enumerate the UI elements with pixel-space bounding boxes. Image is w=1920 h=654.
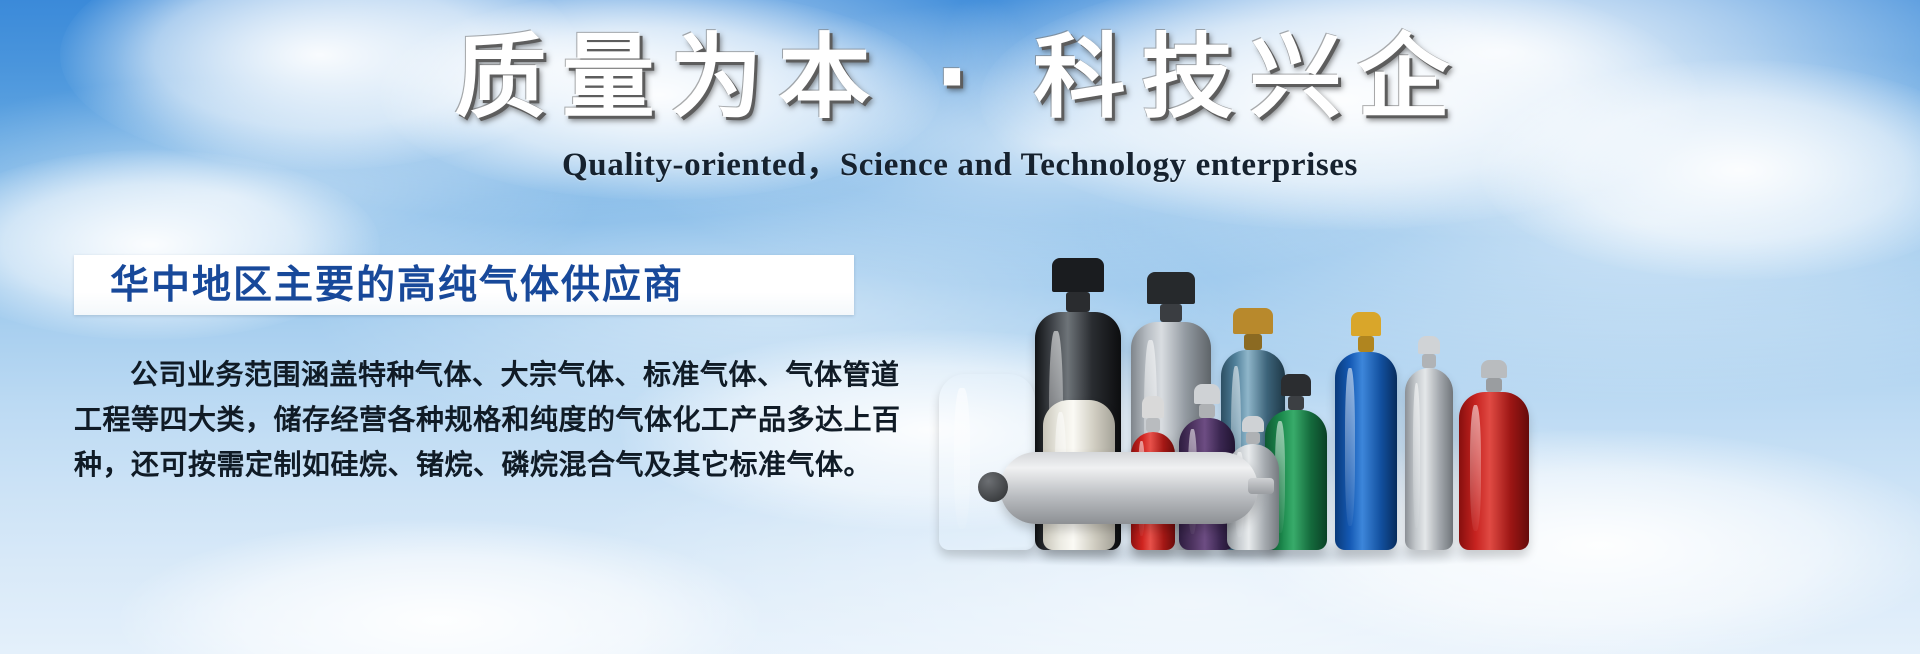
cylinder-blue-tall-body [1335, 352, 1397, 550]
cylinder-purple-neck [1199, 404, 1215, 418]
tank-nozzle-icon [1248, 478, 1274, 494]
cylinder-green-valve-cap [1281, 374, 1311, 396]
cylinder-teal-valve-neck [1244, 334, 1262, 350]
cylinder-red-wide-neck [1486, 378, 1502, 392]
cylinder-red-wide-body [1459, 392, 1529, 550]
cylinder-grey-tall-valve-cap [1147, 272, 1195, 304]
paragraph-line-3: 种，还可按需定制如硅烷、锗烷、磷烷混合气及其它标准气体。 [74, 442, 864, 487]
cylinder-blue-tall-neck [1358, 336, 1374, 352]
paragraph-line-1: 公司业务范围涵盖特种气体、大宗气体、标准气体、气体管道 [74, 352, 864, 397]
slogan-text: 华中地区主要的高纯气体供应商 [74, 266, 684, 305]
description-paragraph: 公司业务范围涵盖特种气体、大宗气体、标准气体、气体管道 工程等四大类，储存经营各… [74, 352, 864, 487]
cylinder-red-wide-valve-cap [1481, 360, 1507, 378]
cylinder-black-tall-valve-cap [1052, 258, 1104, 292]
promo-banner: 质量为本 · 科技兴企 Quality-oriented，Science and… [0, 0, 1920, 654]
headline-chinese: 质量为本 · 科技兴企 [0, 26, 1920, 129]
cylinder-purple-valve-cap [1194, 384, 1220, 404]
cylinder-green-neck [1288, 396, 1304, 410]
cylinder-aluminium-mid-neck [1246, 432, 1260, 444]
cylinder-blue-tall [1335, 352, 1397, 550]
slogan-box: 华中地区主要的高纯气体供应商 [74, 255, 854, 315]
cylinder-steel-narrow [1405, 368, 1453, 550]
paragraph-line-2: 工程等四大类，储存经营各种规格和纯度的气体化工产品多达上百 [74, 397, 864, 442]
tank-knob-icon [978, 472, 1008, 502]
cylinder-horizontal-tank [1000, 452, 1258, 524]
cylinder-aluminium-mid-valve-cap [1242, 416, 1264, 432]
cylinder-black-tall-neck [1066, 292, 1090, 312]
cylinder-steel-narrow-neck [1422, 354, 1436, 368]
cloud-decor-8 [120, 520, 760, 654]
cylinder-steel-narrow-body [1405, 368, 1453, 550]
cylinder-teal-valve-valve-cap [1233, 308, 1273, 334]
cylinder-grey-tall-neck [1160, 304, 1182, 322]
cylinder-red-wide [1459, 392, 1529, 550]
cylinder-steel-narrow-valve-cap [1418, 336, 1440, 354]
cylinder-red-small-neck [1146, 418, 1160, 432]
cylinder-blue-tall-valve-cap [1351, 312, 1381, 336]
cylinder-red-small-valve-cap [1142, 396, 1164, 418]
